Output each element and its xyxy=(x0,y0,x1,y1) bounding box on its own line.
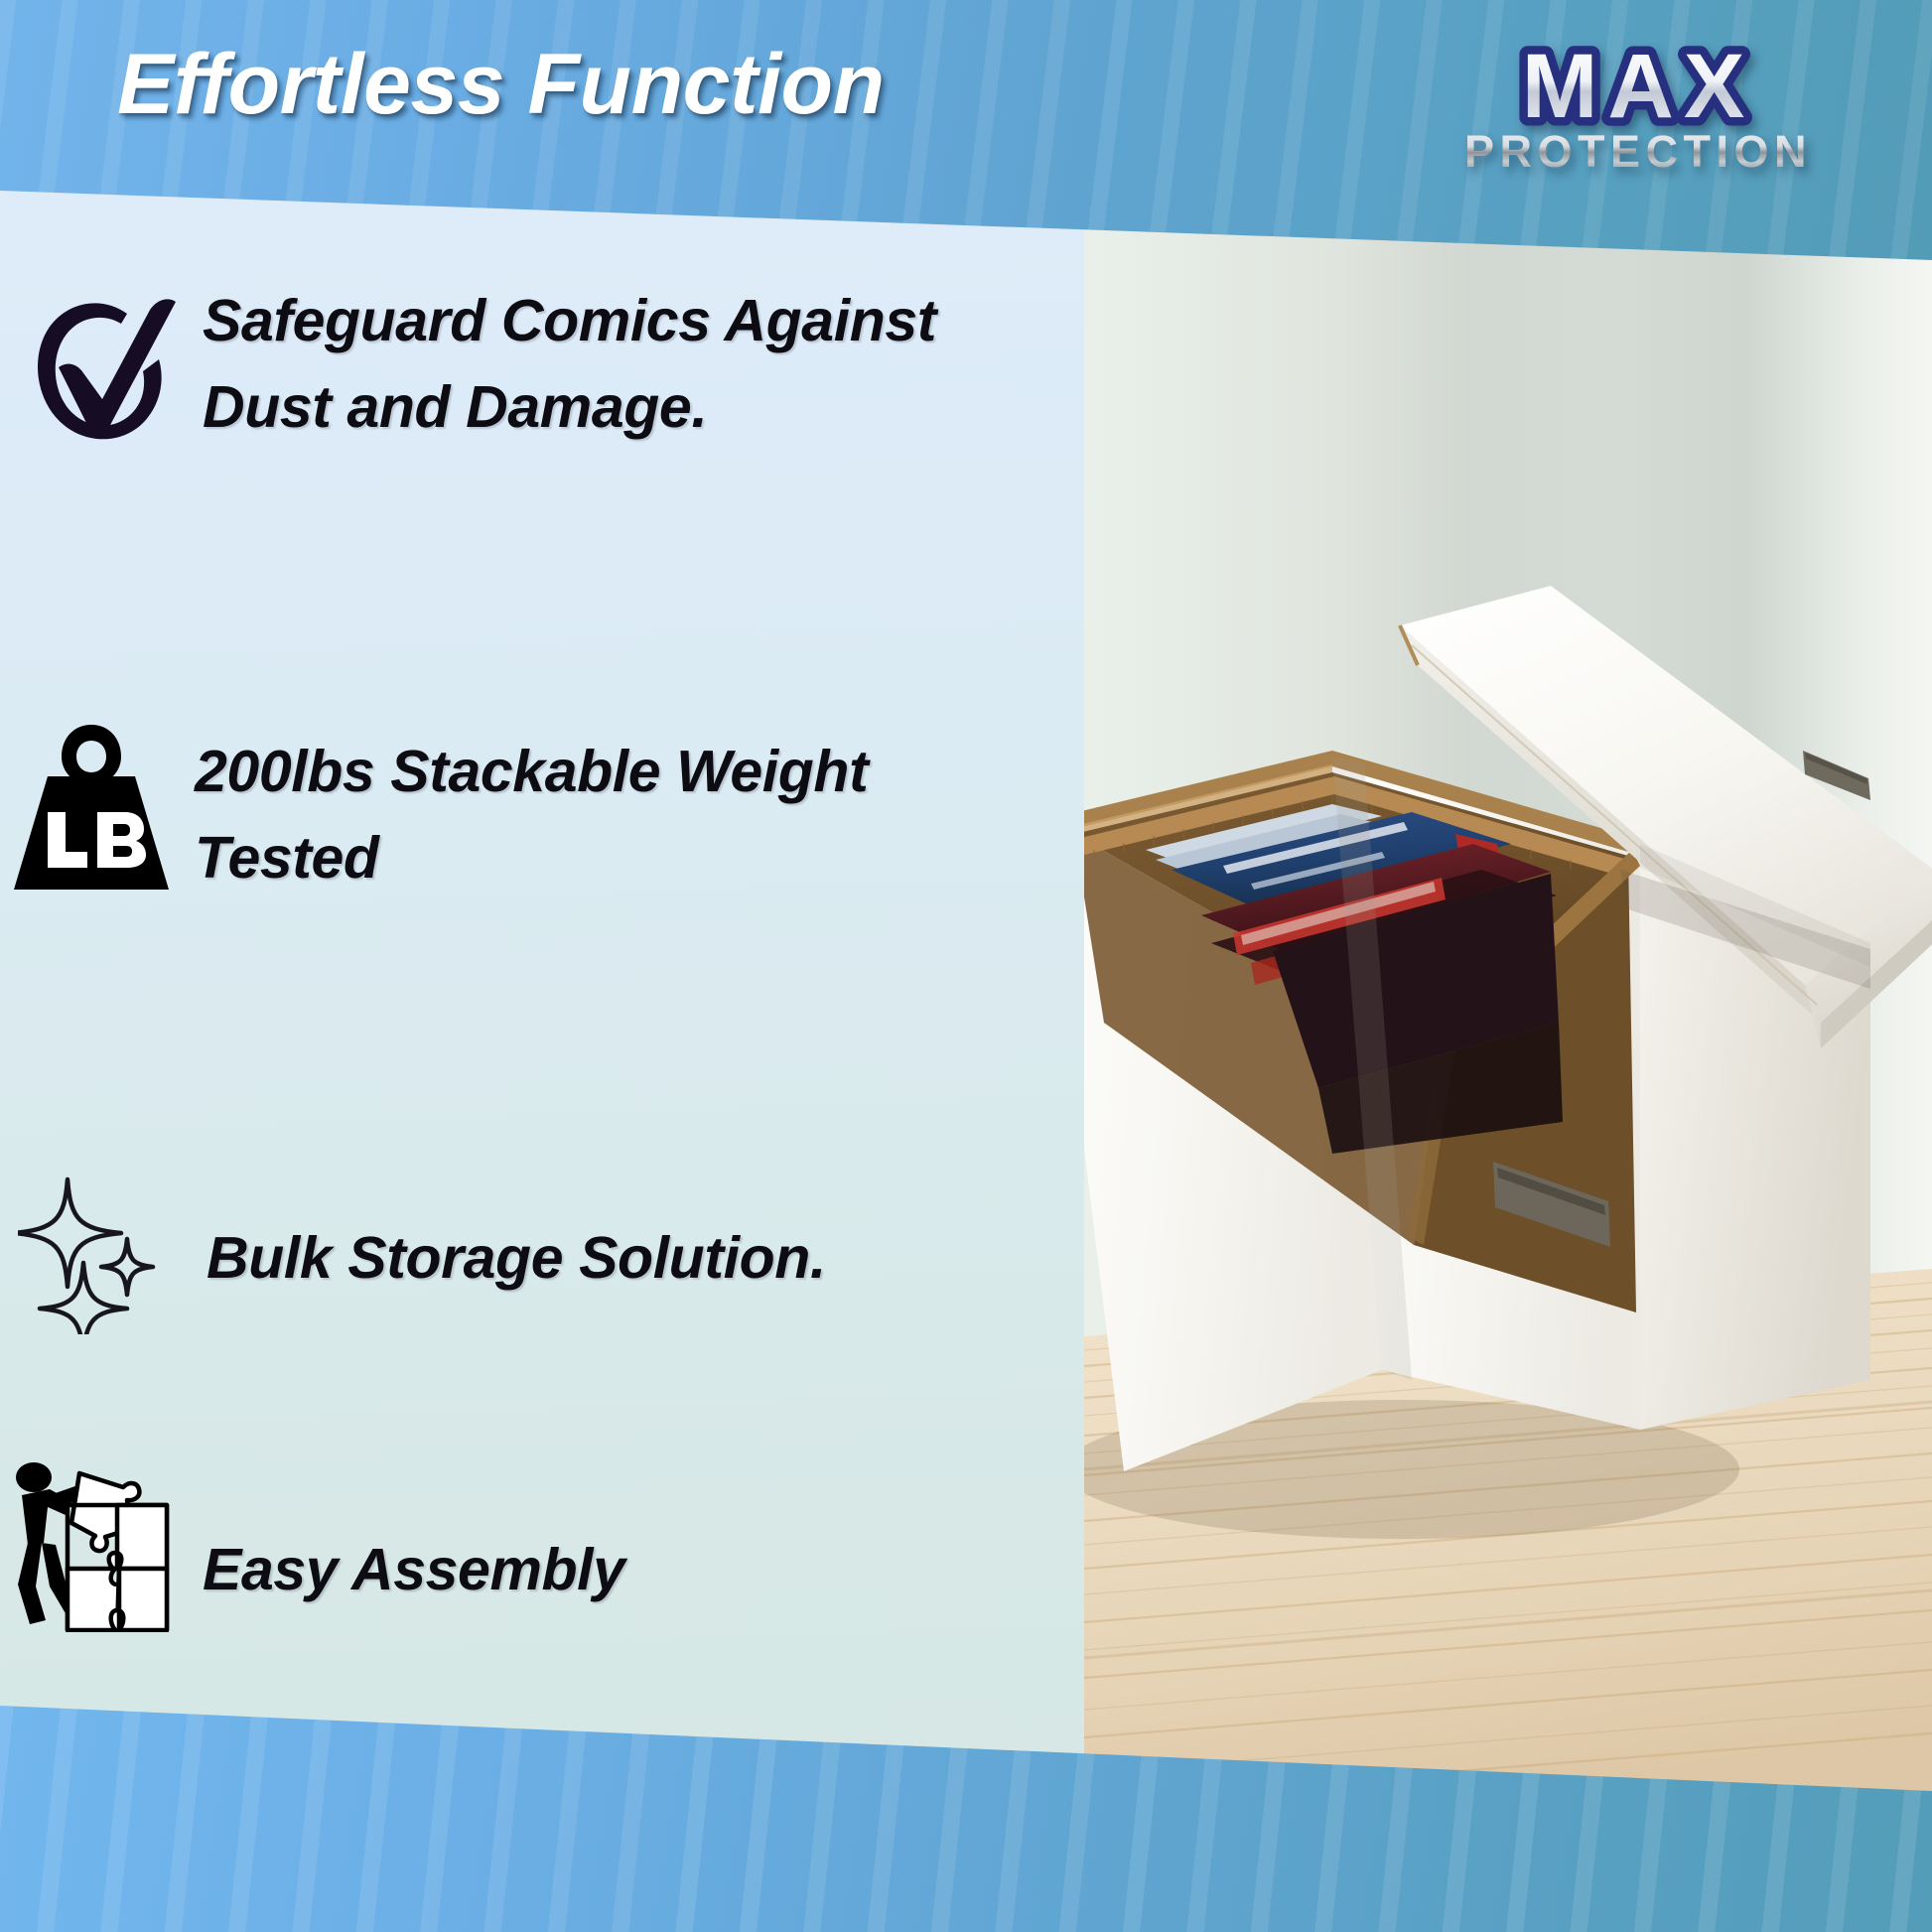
feature-item-bulk-storage: Bulk Storage Solution. xyxy=(18,1172,1090,1334)
infographic-canvas: Effortless Function xyxy=(0,0,1932,1932)
feature-label: Easy Assembly xyxy=(203,1451,987,1613)
feature-list: Safeguard Comics Against Dust and Damage… xyxy=(0,149,1084,1777)
feature-label: Safeguard Comics Against Dust and Damage… xyxy=(203,266,957,450)
svg-text:PROTECTION: PROTECTION xyxy=(1464,126,1812,177)
max-protection-logo: MAX MAX PROTECTION xyxy=(1382,34,1898,183)
page-title: Effortless Function xyxy=(117,36,885,134)
feature-item-safeguard: Safeguard Comics Against Dust and Damage… xyxy=(10,266,1082,460)
feature-item-weight: 200lbs Stackable Weight Tested xyxy=(4,715,1076,900)
svg-text:MAX: MAX xyxy=(1522,36,1754,137)
product-photo xyxy=(1084,149,1932,1837)
check-circle-icon xyxy=(10,276,189,460)
feature-label: 200lbs Stackable Weight Tested xyxy=(195,715,949,900)
weight-lb-icon xyxy=(4,721,179,899)
feature-item-easy-assembly: Easy Assembly xyxy=(6,1451,1078,1632)
puzzle-assembly-icon xyxy=(6,1451,191,1632)
feature-label: Bulk Storage Solution. xyxy=(207,1172,981,1302)
sparkles-icon xyxy=(18,1168,185,1334)
